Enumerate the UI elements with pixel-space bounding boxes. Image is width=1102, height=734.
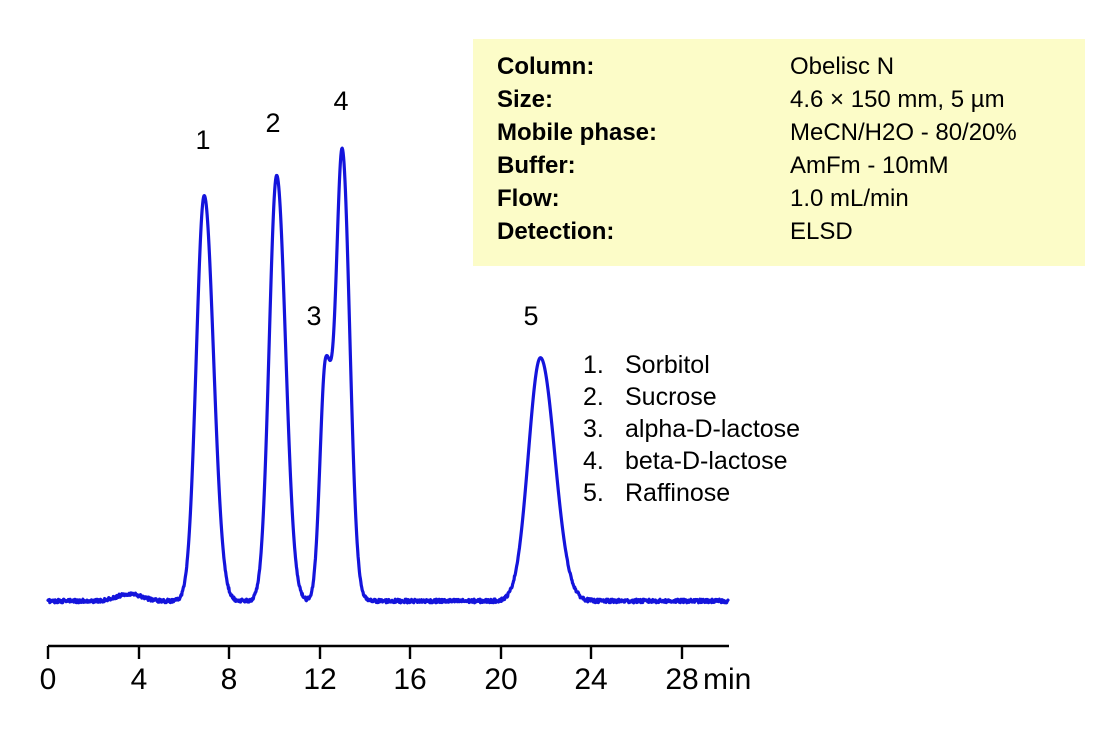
legend-index: 3. <box>583 415 625 444</box>
x-axis-unit-label: min <box>703 665 751 695</box>
method-value-buffer: AmFm - 10mM <box>790 152 949 180</box>
chromatogram-figure: 12345 Column: Obelisc N Size: 4.6 × 150 … <box>0 0 1102 734</box>
legend-name-sucrose: Sucrose <box>625 383 717 412</box>
method-label-flow: Flow: <box>497 185 790 213</box>
method-label-column: Column: <box>497 53 790 81</box>
legend-name-alpha-d-lactose: alpha-D-lactose <box>625 415 800 444</box>
compound-legend: 1. Sorbitol 2. Sucrose 3. alpha-D-lactos… <box>583 351 883 511</box>
peak-label-2: 2 <box>253 110 293 137</box>
method-row: Flow: 1.0 mL/min <box>497 185 1085 218</box>
legend-item: 5. Raffinose <box>583 479 883 511</box>
legend-item: 3. alpha-D-lactose <box>583 415 883 447</box>
legend-item: 4. beta-D-lactose <box>583 447 883 479</box>
x-axis-tick-label-4: 4 <box>109 665 169 695</box>
legend-index: 2. <box>583 383 625 412</box>
method-row: Size: 4.6 × 150 mm, 5 µm <box>497 86 1085 119</box>
method-label-mobile-phase: Mobile phase: <box>497 119 790 147</box>
method-row: Column: Obelisc N <box>497 53 1085 86</box>
x-axis-ticks <box>48 646 682 659</box>
legend-index: 4. <box>583 447 625 476</box>
legend-index: 1. <box>583 351 625 380</box>
peak-label-3: 3 <box>294 303 334 330</box>
legend-name-raffinose: Raffinose <box>625 479 730 508</box>
method-value-flow: 1.0 mL/min <box>790 185 909 213</box>
peak-label-1: 1 <box>183 127 223 154</box>
legend-name-sorbitol: Sorbitol <box>625 351 710 380</box>
peak-label-5: 5 <box>511 303 551 330</box>
legend-index: 5. <box>583 479 625 508</box>
method-row: Mobile phase: MeCN/H2O - 80/20% <box>497 119 1085 152</box>
peak-label-4: 4 <box>321 88 361 115</box>
method-value-size: 4.6 × 150 mm, 5 µm <box>790 86 1005 114</box>
x-axis-tick-label-16: 16 <box>380 665 440 695</box>
legend-name-beta-d-lactose: beta-D-lactose <box>625 447 788 476</box>
method-info-box: Column: Obelisc N Size: 4.6 × 150 mm, 5 … <box>473 39 1085 266</box>
method-row: Buffer: AmFm - 10mM <box>497 152 1085 185</box>
x-axis-tick-label-12: 12 <box>290 665 350 695</box>
x-axis-tick-label-8: 8 <box>199 665 259 695</box>
method-label-buffer: Buffer: <box>497 152 790 180</box>
legend-item: 2. Sucrose <box>583 383 883 415</box>
x-axis-tick-label-0: 0 <box>18 665 78 695</box>
method-row: Detection: ELSD <box>497 218 1085 251</box>
method-value-mobile-phase: MeCN/H2O - 80/20% <box>790 119 1017 147</box>
x-axis-tick-label-24: 24 <box>561 665 621 695</box>
method-value-detection: ELSD <box>790 218 853 246</box>
legend-item: 1. Sorbitol <box>583 351 883 383</box>
method-label-detection: Detection: <box>497 218 790 246</box>
x-axis-tick-label-20: 20 <box>471 665 531 695</box>
method-label-size: Size: <box>497 86 790 114</box>
method-value-column: Obelisc N <box>790 53 894 81</box>
